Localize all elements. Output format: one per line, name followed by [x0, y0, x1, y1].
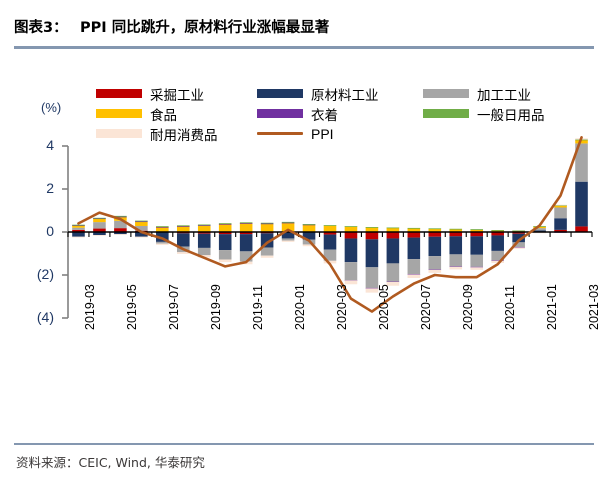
bar-segment — [93, 222, 106, 228]
bar-segment — [470, 229, 483, 230]
bar-segment — [345, 226, 358, 232]
bar-segment — [387, 238, 400, 263]
bar-segment — [135, 221, 148, 222]
bar-segment — [345, 226, 358, 227]
bar-segment — [261, 247, 274, 255]
bar-series-group — [72, 138, 588, 292]
x-tick-label: 2019-07 — [167, 284, 181, 330]
bar-segment — [387, 232, 400, 238]
bar-segment — [449, 254, 462, 266]
bar-segment — [240, 234, 253, 251]
bar-segment — [575, 182, 588, 227]
bar-segment — [219, 224, 232, 232]
y-tick-label: 4 — [20, 137, 54, 153]
x-tick-label: 2019-05 — [125, 284, 139, 330]
bar-segment — [408, 259, 421, 274]
bar-segment — [177, 226, 190, 232]
bar-segment — [429, 256, 442, 269]
bar-segment — [156, 244, 169, 245]
bar-segment — [554, 207, 567, 218]
bar-segment — [219, 234, 232, 250]
bar-segment — [470, 267, 483, 270]
bar-segment — [303, 224, 316, 225]
bar-segment — [93, 235, 106, 236]
bar-segment — [282, 238, 295, 240]
bar-segment — [72, 237, 85, 238]
bar-segment — [408, 228, 421, 229]
bar-segment — [387, 263, 400, 281]
bar-segment — [240, 222, 253, 223]
x-tick-label: 2020-03 — [335, 284, 349, 330]
bar-segment — [177, 233, 190, 246]
bar-segment — [177, 225, 190, 226]
x-tick-label: 2020-05 — [377, 284, 391, 330]
bar-segment — [449, 236, 462, 254]
bar-segment — [261, 224, 274, 232]
bar-segment — [261, 223, 274, 224]
bar-segment — [512, 231, 525, 232]
bar-segment — [491, 230, 504, 231]
y-tick-label: 0 — [20, 223, 54, 239]
bar-segment — [198, 224, 211, 225]
bar-segment — [408, 238, 421, 260]
bar-segment — [219, 260, 232, 263]
bar-segment — [345, 262, 358, 280]
x-tick-label: 2020-09 — [461, 284, 475, 330]
x-tick-label: 2020-07 — [419, 284, 433, 330]
x-tick-label: 2021-03 — [587, 284, 601, 330]
legend-swatch-mining — [96, 89, 142, 98]
bar-segment — [324, 225, 337, 226]
bar-segment — [554, 205, 567, 206]
bar-segment — [93, 218, 106, 219]
bar-segment — [303, 225, 316, 232]
bar-segment — [324, 226, 337, 232]
bar-segment — [366, 232, 379, 239]
source-note: 资料来源：CEIC, Wind, 华泰研究 — [16, 452, 205, 471]
bar-segment — [198, 226, 211, 232]
legend-swatch-processing — [423, 89, 469, 98]
bar-segment — [135, 237, 148, 238]
x-tick-label: 2019-09 — [209, 284, 223, 330]
x-tick-label: 2019-03 — [83, 284, 97, 330]
bar-segment — [93, 219, 106, 222]
bar-segment — [575, 226, 588, 232]
bar-segment — [366, 239, 379, 267]
bar-segment — [470, 236, 483, 254]
title-divider — [14, 46, 594, 49]
bar-segment — [240, 223, 253, 232]
bar-segment — [219, 250, 232, 259]
bar-segment — [282, 222, 295, 223]
source-divider — [14, 443, 594, 445]
bar-segment — [491, 235, 504, 250]
figure-label: 图表3： — [14, 20, 68, 36]
figure-title-bar: 图表3： PPI 同比跳升，原材料行业涨幅最显著 — [14, 16, 594, 46]
bar-segment — [429, 270, 442, 273]
bar-segment — [282, 241, 295, 242]
x-tick-label: 2019-11 — [251, 285, 265, 330]
bar-segment — [554, 218, 567, 230]
bar-segment — [72, 228, 85, 230]
bar-segment — [324, 235, 337, 250]
bar-segment — [408, 232, 421, 238]
bar-segment — [198, 248, 211, 255]
bar-segment — [449, 229, 462, 230]
x-tick-label: 2021-01 — [545, 284, 559, 330]
legend-swatch-raw-material — [257, 89, 303, 98]
bar-segment — [198, 234, 211, 248]
bar-segment — [345, 232, 358, 238]
bar-segment — [177, 252, 190, 254]
bar-segment — [429, 237, 442, 256]
bar-segment — [135, 222, 148, 226]
bar-segment — [387, 227, 400, 228]
page-title: PPI 同比跳升，原材料行业涨幅最显著 — [80, 20, 329, 36]
y-tick-label: 2 — [20, 180, 54, 196]
bar-segment — [366, 227, 379, 228]
bar-segment — [449, 267, 462, 270]
bar-segment — [470, 255, 483, 267]
y-tick-label: (4) — [20, 309, 54, 325]
bar-segment — [156, 226, 169, 227]
bar-segment — [219, 223, 232, 224]
bar-segment — [512, 247, 525, 248]
x-tick-label: 2020-11 — [503, 285, 517, 330]
bar-segment — [345, 238, 358, 262]
bar-segment — [429, 228, 442, 229]
bar-segment — [408, 275, 421, 278]
bar-segment — [261, 256, 274, 258]
y-tick-label: (2) — [20, 266, 54, 282]
x-tick-label: 2020-01 — [293, 284, 307, 330]
bar-segment — [72, 225, 85, 226]
bar-segment — [114, 234, 127, 235]
